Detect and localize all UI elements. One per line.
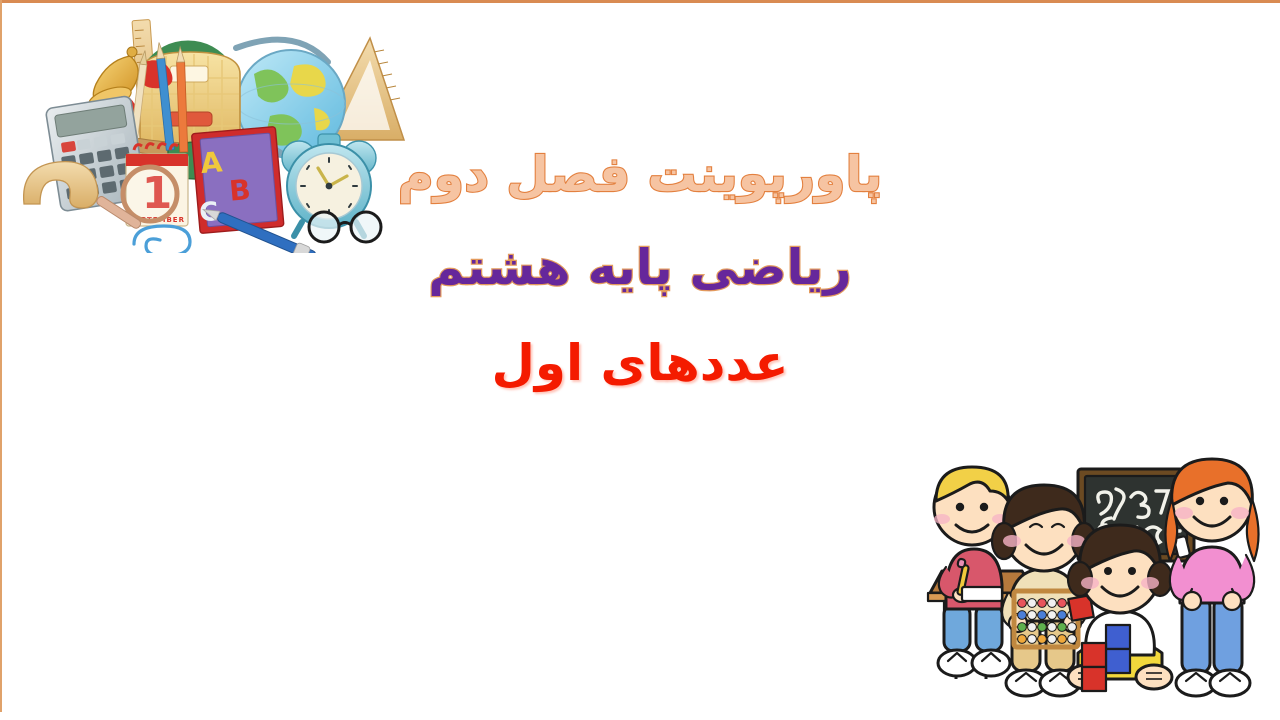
slide-title-block: پاورپوینت فصل دوم ریاضی پایه هشتم عددهای… [330, 150, 950, 388]
title-line-powerpoint-chapter: پاورپوینت فصل دوم [330, 150, 950, 199]
paperclip-icon [134, 226, 190, 253]
child-blonde-boy [934, 467, 1010, 679]
slide-left-border [0, 0, 2, 712]
child-girl-with-blocks [1068, 525, 1172, 691]
title-line-subject-grade: ریاضی پایه هشتم [330, 243, 950, 292]
svg-text:A: A [199, 145, 224, 180]
svg-text:B: B [228, 173, 252, 208]
child-redhead-girl [1165, 459, 1258, 696]
slide-top-border [0, 0, 1280, 3]
presentation-slide: 1 SEPTEMBER A B C [0, 0, 1280, 720]
title-line-topic-prime-numbers: عددهای اول [330, 338, 950, 388]
classroom-children-clipart: .ol { stroke:#1b1b1b; stroke-width:3; st… [900, 445, 1272, 707]
abc-book-icon: A B C [192, 127, 284, 234]
